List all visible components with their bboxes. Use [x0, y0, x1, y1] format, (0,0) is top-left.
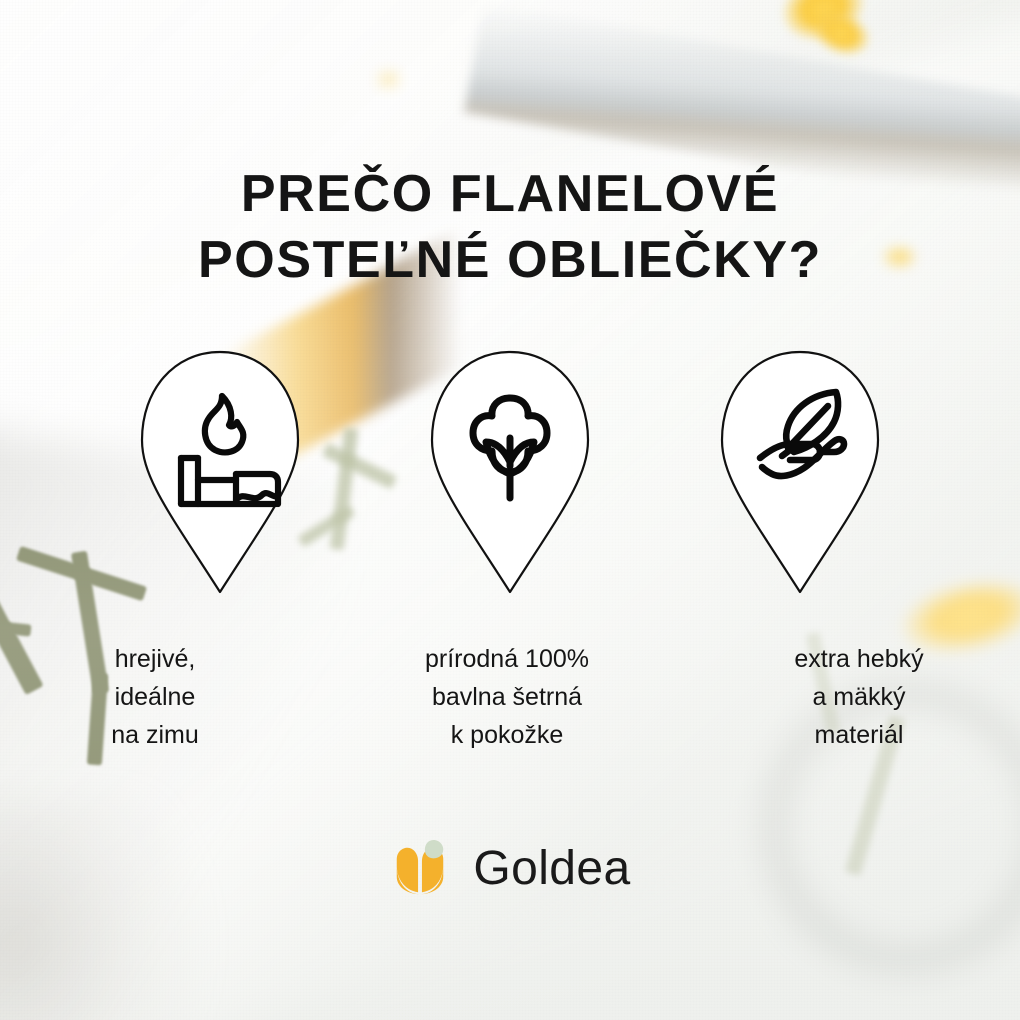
feature-item-warm — [136, 348, 304, 596]
page-title: PREČO FLANELOVÉ POSTEĽNÉ OBLIEČKY? — [0, 161, 1020, 293]
feature-caption-warm: hrejivé, ideálne na zimu — [40, 640, 270, 754]
pin-marker — [426, 348, 594, 596]
feature-item-soft — [716, 348, 884, 596]
feature-item-cotton — [426, 348, 594, 596]
feature-caption-row: hrejivé, ideálne na zimu prírodná 100% b… — [0, 640, 1020, 754]
brand-name: Goldea — [473, 843, 630, 895]
feature-caption-cotton: prírodná 100% bavlna šetrná k pokožke — [392, 640, 622, 754]
feature-pin-row — [0, 348, 1020, 596]
feature-caption-soft: extra hebký a mäkký materiál — [744, 640, 974, 754]
pin-marker — [136, 348, 304, 596]
goldea-tulip-logo-icon — [389, 838, 451, 900]
promo-graphic: PREČO FLANELOVÉ POSTEĽNÉ OBLIEČKY? — [0, 0, 1020, 1020]
pin-marker — [716, 348, 884, 596]
brand-lockup: Goldea — [0, 838, 1020, 900]
